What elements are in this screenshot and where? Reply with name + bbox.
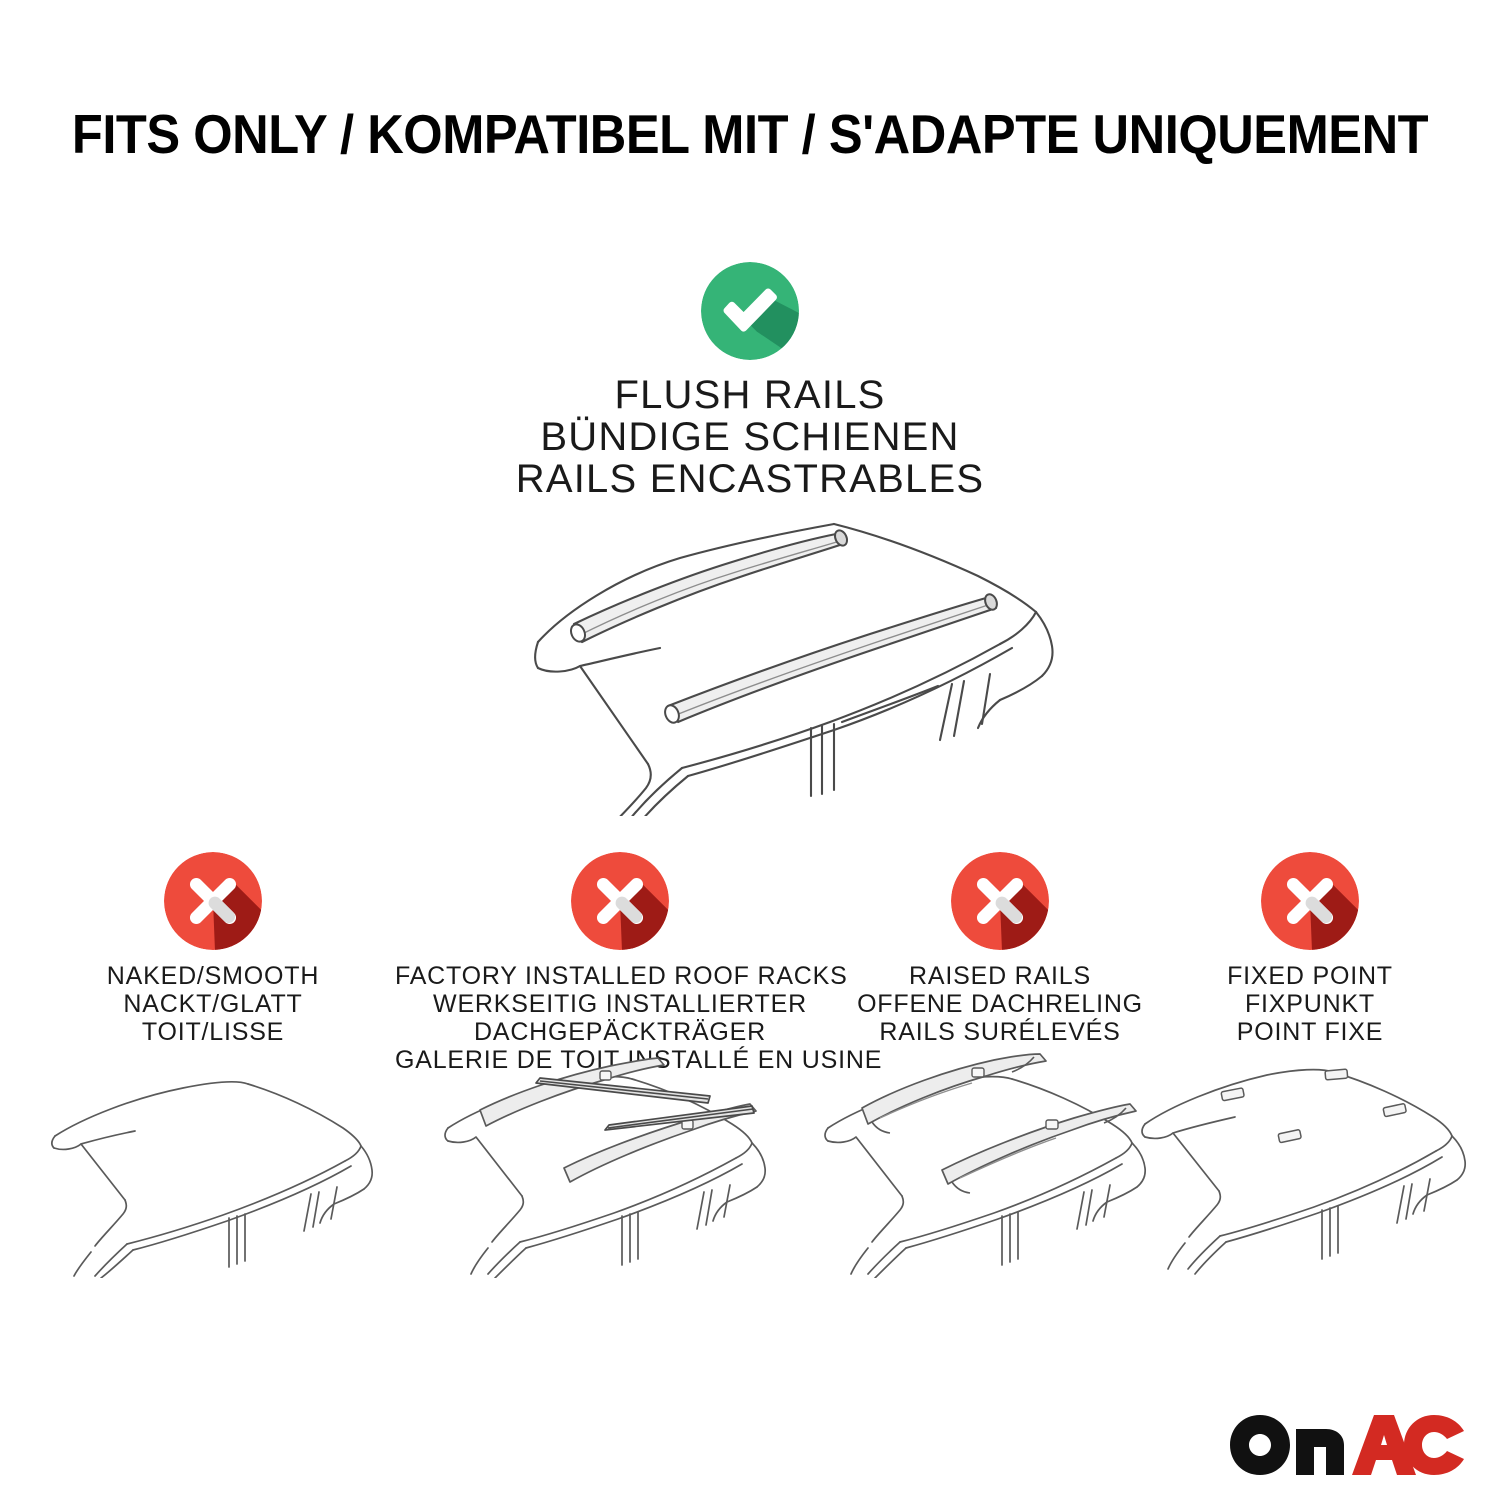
compatible-label-de: BÜNDIGE SCHIENEN	[0, 416, 1500, 458]
incompatible-section: NAKED/SMOOTH NACKT/GLATT TOIT/LISSE	[0, 852, 1500, 1292]
car-roof-flush-rails-illustration	[430, 496, 1070, 816]
label-line-en: FACTORY INSTALLED ROOF RACKS	[395, 962, 845, 990]
incompatible-label-fixed-point: FIXED POINT FIXPUNKT POINT FIXE	[1165, 962, 1455, 1046]
x-circle-icon	[164, 852, 262, 950]
check-circle-icon	[701, 262, 799, 360]
label-line-fr: TOIT/LISSE	[53, 1018, 373, 1046]
omac-logo: OMAC	[1228, 1414, 1468, 1476]
x-circle-icon	[1261, 852, 1359, 950]
compatible-label-en: FLUSH RAILS	[0, 374, 1500, 416]
compatible-section: FLUSH RAILS BÜNDIGE SCHIENEN RAILS ENCAS…	[0, 262, 1500, 500]
car-roof-factory-roof-racks-illustration	[440, 1048, 800, 1278]
incompatible-item-raised-rails: RAISED RAILS OFFENE DACHRELING RAILS SUR…	[850, 852, 1150, 1046]
car-roof-raised-rails-illustration	[820, 1048, 1180, 1278]
page-title: FITS ONLY / KOMPATIBEL MIT / S'ADAPTE UN…	[60, 104, 1440, 164]
car-roof-fixed-point-illustration	[1135, 1048, 1485, 1278]
compatible-label-fr: RAILS ENCASTRABLES	[0, 458, 1500, 500]
label-line-en: RAISED RAILS	[850, 962, 1150, 990]
label-line-de-1: WERKSEITIG INSTALLIERTER	[395, 990, 845, 1018]
label-line-de: OFFENE DACHRELING	[850, 990, 1150, 1018]
incompatible-item-fixed-point: FIXED POINT FIXPUNKT POINT FIXE	[1165, 852, 1455, 1046]
incompatible-item-factory-roof-racks: FACTORY INSTALLED ROOF RACKS WERKSEITIG …	[395, 852, 845, 1074]
label-line-en: FIXED POINT	[1165, 962, 1455, 990]
label-line-fr: RAILS SURÉLEVÉS	[850, 1018, 1150, 1046]
label-line-de-2: DACHGEPÄCKTRÄGER	[395, 1018, 845, 1046]
label-line-en: NAKED/SMOOTH	[53, 962, 373, 990]
x-circle-icon	[951, 852, 1049, 950]
incompatible-label-raised-rails: RAISED RAILS OFFENE DACHRELING RAILS SUR…	[850, 962, 1150, 1046]
compatible-labels: FLUSH RAILS BÜNDIGE SCHIENEN RAILS ENCAS…	[0, 374, 1500, 500]
label-line-de: FIXPUNKT	[1165, 990, 1455, 1018]
label-line-fr: POINT FIXE	[1165, 1018, 1455, 1046]
incompatible-label-naked-smooth: NAKED/SMOOTH NACKT/GLATT TOIT/LISSE	[53, 962, 373, 1046]
label-line-de: NACKT/GLATT	[53, 990, 373, 1018]
compatibility-infographic: FITS ONLY / KOMPATIBEL MIT / S'ADAPTE UN…	[0, 0, 1500, 1500]
incompatible-item-naked-smooth: NAKED/SMOOTH NACKT/GLATT TOIT/LISSE	[53, 852, 373, 1046]
x-circle-icon	[571, 852, 669, 950]
car-roof-naked-smooth-illustration	[43, 1048, 383, 1278]
